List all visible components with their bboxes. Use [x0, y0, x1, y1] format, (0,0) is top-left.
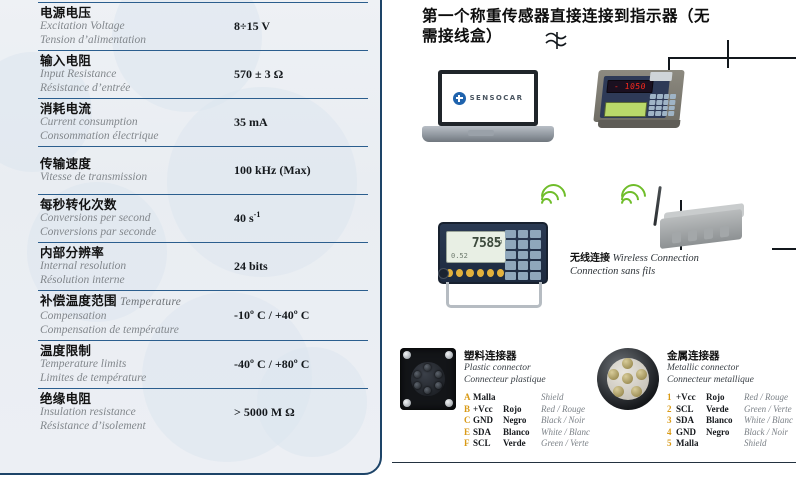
- connector-pin-row: 1+VccRojoRed / Rouge: [667, 392, 793, 404]
- connector-pin-row: ESDABlancoWhite / Blanc: [464, 427, 590, 439]
- plastic-connector-title-fr: Connecteur plastique: [464, 375, 590, 387]
- wireless-caption-fr: Connection sans fils: [570, 266, 655, 277]
- pin-color-es: Blanco: [706, 415, 744, 427]
- desk-indicator-stand: [598, 120, 681, 128]
- pin-key: B: [464, 404, 473, 416]
- metallic-connector-title-en: Metallic connector: [667, 363, 793, 375]
- spec-row-labels: 补偿温度范围 TemperatureCompensationCompensati…: [38, 293, 228, 337]
- wireless-signal-icon: [620, 186, 646, 210]
- pin-signal: +Vcc: [473, 404, 503, 416]
- connector-pin-row: AMallaShield: [464, 392, 590, 404]
- pin-color-es: Verde: [706, 404, 744, 416]
- desk-indicator-body: - 1050: [593, 70, 684, 122]
- desk-indicator-lcd: [604, 102, 648, 117]
- connection-diagram-panel: 第一个称重传感器直接连接到指示器（无需接线盒） SENSOCAR - 1050: [392, 0, 796, 495]
- metallic-connector-pins: [607, 358, 649, 400]
- spec-value: 40 s-1: [228, 210, 368, 226]
- pin-color-es: Verde: [503, 438, 541, 450]
- spec-label-fr: Résistance d’entrée: [40, 82, 228, 96]
- spec-row: 传输速度Vitesse de transmission100 kHz (Max): [38, 146, 368, 194]
- spec-row: 每秒转化次数Conversions per secondConversions …: [38, 194, 368, 242]
- wireless-caption-en: Wireless Connection: [613, 253, 699, 264]
- pin-color-translation: Green / Verte: [541, 438, 589, 448]
- wire-to-desk-indicator: [727, 40, 729, 68]
- spec-label-fr: Consommation électrique: [40, 130, 228, 144]
- spec-label-inline-en: Temperature: [117, 296, 181, 308]
- laptop-trackpad: [468, 130, 494, 136]
- pin-signal: SDA: [473, 427, 503, 439]
- metallic-connector-title-cn: 金属连接器: [667, 350, 793, 363]
- wireless-indicator-function-keys: [446, 266, 504, 279]
- metallic-connector-text: 金属连接器 Metallic connector Connecteur meta…: [667, 348, 793, 450]
- wireless-signal-icon: [540, 186, 566, 210]
- spec-row-labels: 输入电阻Input ResistanceRésistance d’entrée: [38, 53, 228, 95]
- cable-gland: [720, 226, 729, 238]
- sensocar-logo-icon: [453, 92, 466, 105]
- screw-icon: [403, 399, 411, 407]
- plastic-connector-housing: [400, 348, 456, 410]
- spec-value: 570 ± 3 Ω: [228, 67, 368, 82]
- connector-pin-row: 4GNDNegroBlack / Noir: [667, 427, 793, 439]
- spec-row-labels: 电源电压Excitation VoltageTension d’alimenta…: [38, 5, 228, 47]
- pin-color-translation: Black / Noir: [541, 415, 585, 425]
- pin-color-translation: Red / Rouge: [541, 404, 585, 414]
- screw-icon: [445, 399, 453, 407]
- metallic-connector-legend: 金属连接器 Metallic connector Connecteur meta…: [597, 348, 793, 450]
- spec-value: 8÷15 V: [228, 19, 368, 34]
- laptop-base: [422, 126, 554, 142]
- spec-value: 35 mA: [228, 115, 368, 130]
- spec-label-cn: 温度限制: [40, 343, 228, 358]
- pin-signal: GND: [676, 427, 706, 439]
- pin-key: 2: [667, 404, 676, 416]
- plastic-connector-legend: 塑料连接器 Plastic connector Connecteur plast…: [400, 348, 590, 450]
- plastic-connector-text: 塑料连接器 Plastic connector Connecteur plast…: [464, 348, 590, 450]
- spec-label-cn: 消耗电流: [40, 101, 228, 116]
- desk-indicator-printer: [650, 72, 673, 81]
- cable-gland: [672, 231, 681, 243]
- page-bottom-rule: [392, 462, 796, 463]
- pin-color-es: Rojo: [503, 404, 541, 416]
- spec-row-labels: 每秒转化次数Conversions per secondConversions …: [38, 197, 228, 239]
- spec-label-cn: 电源电压: [40, 5, 228, 20]
- metallic-connector-image: [597, 348, 659, 450]
- spec-label-en: Excitation Voltage: [40, 20, 228, 34]
- spec-label-fr: Résistance d’isolement: [40, 420, 228, 434]
- spec-label-en: Internal resolution: [40, 260, 228, 274]
- spec-label-cn: 每秒转化次数: [40, 197, 228, 212]
- spec-value: 24 bits: [228, 259, 368, 274]
- connector-pin-row: FSCLVerdeGreen / Verte: [464, 438, 590, 450]
- laptop-logo-text: SENSOCAR: [470, 94, 524, 102]
- spec-row: 补偿温度范围 TemperatureCompensationCompensati…: [38, 290, 368, 340]
- pin-signal: GND: [473, 415, 503, 427]
- cable-gland: [704, 228, 713, 240]
- pin-color-translation: Shield: [541, 392, 564, 402]
- spec-label-cn: 输入电阻: [40, 53, 228, 68]
- spec-row-labels: 温度限制Temperature limitsLimites de tempéra…: [38, 343, 228, 385]
- spec-label-en: Temperature limits: [40, 358, 228, 372]
- pin-signal: SDA: [676, 415, 706, 427]
- wire-horizontal-top: [668, 57, 796, 59]
- spec-row-labels: 内部分辨率Internal resolutionRésolution inter…: [38, 245, 228, 287]
- pin-color-es: Rojo: [706, 392, 744, 404]
- spec-value: > 5000 M Ω: [228, 405, 368, 420]
- spec-label-en: Conversions per second: [40, 212, 228, 226]
- plastic-connector-pin-list: AMallaShieldB+VccRojoRed / RougeCGNDNegr…: [464, 392, 590, 450]
- desk-indicator-led-display: - 1050: [606, 80, 653, 93]
- spec-label-en: Current consumption: [40, 116, 228, 130]
- desk-indicator-face: - 1050: [600, 76, 670, 118]
- pin-key: F: [464, 438, 473, 450]
- pin-key: 4: [667, 427, 676, 439]
- wireless-indicator-stand: [446, 282, 542, 308]
- wireless-indicator-body: 7585 kg 0.52: [438, 222, 548, 284]
- spec-row-labels: 绝缘电阻Insulation resistanceRésistance d’is…: [38, 391, 228, 433]
- connector-pin-row: CGNDNegroBlack / Noir: [464, 415, 590, 427]
- spec-label-en: Compensation: [40, 310, 228, 324]
- screw-icon: [403, 351, 411, 359]
- specification-panel: 电源电压Excitation VoltageTension d’alimenta…: [0, 0, 382, 475]
- pin-key: 5: [667, 438, 676, 450]
- pin-color-es: Negro: [706, 427, 744, 439]
- spec-label-cn: 传输速度: [40, 156, 228, 171]
- spec-label-fr: Résolution interne: [40, 274, 228, 288]
- spec-label-en: Insulation resistance: [40, 406, 228, 420]
- laptop-screen: SENSOCAR: [438, 70, 538, 126]
- wireless-indicator-keypad: [505, 230, 541, 280]
- plastic-connector-title-cn: 塑料连接器: [464, 350, 590, 363]
- pin-key: A: [464, 392, 473, 404]
- desk-indicator-keypad: [648, 94, 676, 116]
- spec-row: 温度限制Temperature limitsLimites de tempéra…: [38, 340, 368, 388]
- plastic-connector-image: [400, 348, 456, 450]
- secondary-value: 0.52: [451, 252, 468, 260]
- metallic-connector-housing: [597, 348, 659, 410]
- pin-key: E: [464, 427, 473, 439]
- connector-pin-row: 2SCLVerdeGreen / Verte: [667, 404, 793, 416]
- pin-color-translation: White / Blanc: [541, 427, 590, 437]
- metallic-connector-pin-list: 1+VccRojoRed / Rouge2SCLVerdeGreen / Ver…: [667, 392, 793, 450]
- metallic-connector-title-fr: Connecteur metallique: [667, 375, 793, 387]
- wireless-connection-caption: 无线连接 Wireless Connection Connection sans…: [570, 252, 710, 278]
- spec-row-labels: 传输速度Vitesse de transmission: [38, 156, 228, 185]
- spec-row-labels: 消耗电流Current consumptionConsommation élec…: [38, 101, 228, 143]
- spec-row: 电源电压Excitation VoltageTension d’alimenta…: [38, 2, 368, 50]
- pin-color-translation: White / Blanc: [744, 415, 793, 425]
- weight-unit: kg: [496, 239, 502, 245]
- spec-value: 100 kHz (Max): [228, 163, 368, 178]
- pin-color-es: Negro: [503, 415, 541, 427]
- cable-gland: [688, 229, 697, 241]
- wire-horizontal-bottom: [772, 248, 796, 250]
- pin-signal: +Vcc: [676, 392, 706, 404]
- pin-color-es: Blanco: [503, 427, 541, 439]
- spec-label-cn: 补偿温度范围 Temperature: [40, 293, 228, 310]
- spec-label-fr: Tension d’alimentation: [40, 34, 228, 48]
- spec-label-cn: 绝缘电阻: [40, 391, 228, 406]
- connector-pin-row: 5MallaShield: [667, 438, 793, 450]
- spec-value: -40º C / +80º C: [228, 357, 368, 372]
- wireless-indicator-device: 7585 kg 0.52: [432, 222, 556, 318]
- screw-icon: [445, 351, 453, 359]
- pin-color-translation: Red / Rouge: [744, 392, 788, 402]
- pin-signal: Malla: [473, 392, 503, 404]
- pin-key: C: [464, 415, 473, 427]
- spec-label-en: Vitesse de transmission: [40, 171, 228, 185]
- wireless-indicator-lcd: 7585 kg 0.52: [446, 231, 506, 263]
- wireless-caption-cn: 无线连接: [570, 253, 610, 264]
- spec-row: 绝缘电阻Insulation resistanceRésistance d’is…: [38, 388, 368, 436]
- pin-color-translation: Shield: [744, 438, 767, 448]
- connector-pin-row: 3SDABlancoWhite / Blanc: [667, 415, 793, 427]
- pin-signal: SCL: [473, 438, 503, 450]
- spec-label-fr: Limites de température: [40, 372, 228, 386]
- spec-label-fr: Compensation de température: [40, 324, 228, 338]
- spec-row: 消耗电流Current consumptionConsommation élec…: [38, 98, 368, 146]
- cable-break-symbol: [544, 30, 570, 52]
- spec-value-superscript: -1: [254, 210, 261, 219]
- plastic-connector-title-en: Plastic connector: [464, 363, 590, 375]
- spec-value: -10º C / +40º C: [228, 308, 368, 323]
- pin-signal: SCL: [676, 404, 706, 416]
- pin-key: 3: [667, 415, 676, 427]
- spec-label-cn: 内部分辨率: [40, 245, 228, 260]
- spec-label-fr: Conversions par seconde: [40, 226, 228, 240]
- spec-row: 输入电阻Input ResistanceRésistance d’entrée5…: [38, 50, 368, 98]
- desk-indicator-device: - 1050: [588, 66, 686, 136]
- specification-table: 电源电压Excitation VoltageTension d’alimenta…: [38, 2, 368, 436]
- pin-key: 1: [667, 392, 676, 404]
- pin-color-translation: Green / Verte: [744, 404, 792, 414]
- connector-pin-row: B+VccRojoRed / Rouge: [464, 404, 590, 416]
- pin-color-translation: Black / Noir: [744, 427, 788, 437]
- spec-label-en: Input Resistance: [40, 68, 228, 82]
- plastic-connector-pins: [411, 362, 445, 396]
- pin-signal: Malla: [676, 438, 706, 450]
- spec-row: 内部分辨率Internal resolutionRésolution inter…: [38, 242, 368, 290]
- laptop-device: SENSOCAR: [422, 70, 554, 148]
- power-button: [438, 268, 449, 279]
